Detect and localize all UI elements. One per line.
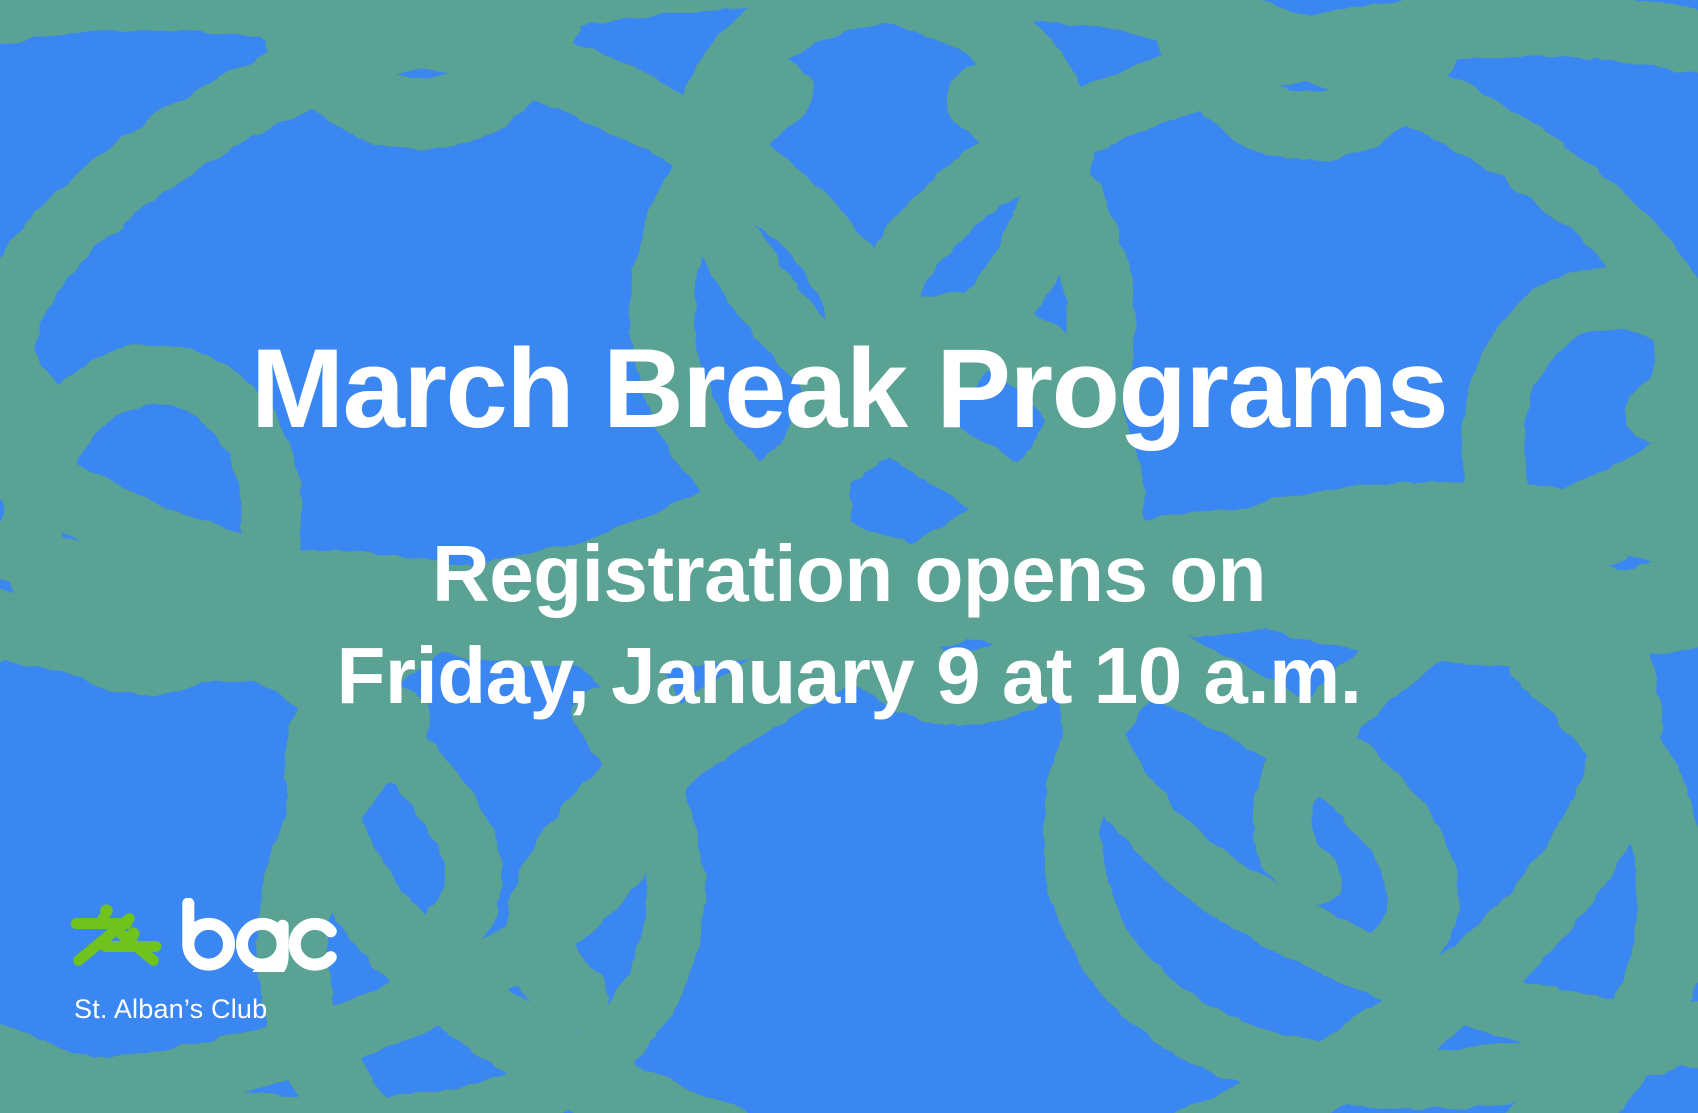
bgc-wordmark: [180, 898, 339, 972]
club-name-label: St. Alban’s Club: [74, 994, 267, 1025]
logo-row: [68, 898, 339, 972]
bgc-logo-lockup: St. Alban’s Club: [68, 898, 339, 1025]
bgc-people-mark-icon: [68, 902, 164, 968]
march-break-promo-poster: March Break Programs Registration opens …: [0, 0, 1698, 1113]
page-title: March Break Programs: [0, 330, 1698, 449]
subtitle-line-2: Friday, January 9 at 10 a.m.: [0, 625, 1698, 727]
poster-text-stack: March Break Programs Registration opens …: [0, 330, 1698, 728]
subtitle-block: Registration opens on Friday, January 9 …: [0, 523, 1698, 728]
subtitle-line-1: Registration opens on: [0, 523, 1698, 625]
